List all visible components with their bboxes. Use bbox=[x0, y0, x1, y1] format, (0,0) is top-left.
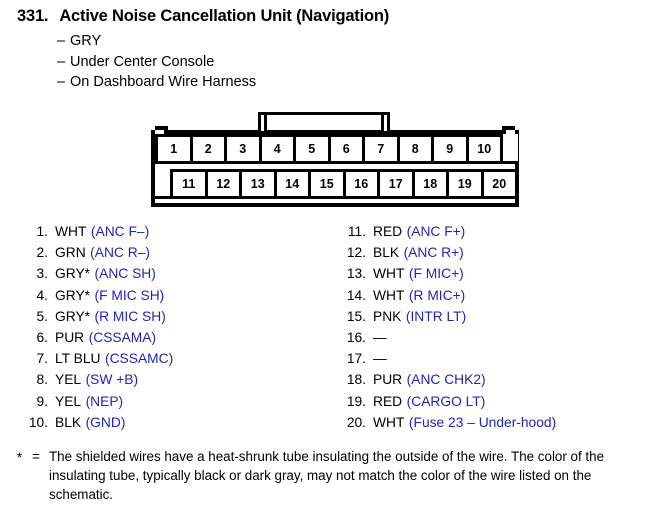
list-item: 1. WHT (ANC F–) bbox=[22, 224, 173, 245]
connector-pin-cell[interactable]: 20 bbox=[481, 169, 519, 199]
pin-circuit-name: (INTR LT) bbox=[406, 309, 466, 324]
asterisk-icon: * bbox=[17, 447, 32, 505]
list-item: 18. PUR (ANC CHK2) bbox=[340, 372, 556, 393]
pin-number: 5. bbox=[22, 309, 55, 324]
pin-circuit-name: (CSSAMC) bbox=[105, 351, 173, 366]
pin-number: 14. bbox=[340, 288, 373, 303]
connector-locking-bracket bbox=[258, 112, 390, 129]
list-item: 6. PUR (CSSAMA) bbox=[22, 330, 173, 351]
list-item: – GRY bbox=[57, 31, 256, 52]
connector-pin-cell[interactable]: 15 bbox=[308, 169, 346, 199]
list-item: 17. — bbox=[340, 351, 556, 372]
pin-number: 13. bbox=[340, 266, 373, 281]
section-title: Active Noise Cancellation Unit (Navigati… bbox=[59, 7, 389, 26]
connector-bracket-post-right bbox=[381, 112, 390, 134]
dash-icon: – bbox=[57, 52, 70, 73]
pin-circuit-name: (ANC CHK2) bbox=[407, 372, 486, 387]
pin-number: 9. bbox=[22, 394, 55, 409]
dash-icon: – bbox=[57, 31, 70, 52]
footnote: * = The shielded wires have a heat-shrun… bbox=[17, 447, 637, 505]
connector-pin-cell[interactable]: 13 bbox=[239, 169, 277, 199]
pin-wire-color: PNK bbox=[373, 309, 401, 324]
pin-wire-color: BLK bbox=[373, 245, 399, 260]
pin-wire-color: WHT bbox=[373, 415, 404, 430]
pin-circuit-name: (ANC R–) bbox=[90, 245, 150, 260]
pin-wire-color: WHT bbox=[55, 224, 86, 239]
pin-circuit-name: (ANC SH) bbox=[95, 266, 156, 281]
list-item: 16. — bbox=[340, 330, 556, 351]
list-item: 20. WHT (Fuse 23 – Under-hood) bbox=[340, 415, 556, 436]
pin-number: 15. bbox=[340, 309, 373, 324]
list-item: – Under Center Console bbox=[57, 52, 256, 73]
connector-pin-cell[interactable]: 18 bbox=[412, 169, 450, 199]
pin-list-left-column: 1. WHT (ANC F–) 2. GRN (ANC R–) 3. GRY* … bbox=[22, 224, 173, 436]
pin-circuit-name: (Fuse 23 – Under-hood) bbox=[409, 415, 556, 430]
pin-number: 2. bbox=[22, 245, 55, 260]
connector-pin-cell[interactable]: 3 bbox=[224, 134, 262, 164]
connector-bracket-post-left bbox=[258, 112, 267, 134]
connector-pin-cell[interactable]: 7 bbox=[362, 134, 400, 164]
connector-pin-cell[interactable]: 9 bbox=[431, 134, 469, 164]
pin-number: 11. bbox=[340, 224, 373, 239]
pin-number: 7. bbox=[22, 351, 55, 366]
pin-number: 8. bbox=[22, 372, 55, 387]
connector-pin-cell[interactable]: 8 bbox=[397, 134, 435, 164]
pin-circuit-name: (R MIC+) bbox=[409, 288, 465, 303]
pin-number: 16. bbox=[340, 330, 373, 345]
pin-number: 3. bbox=[22, 266, 55, 281]
connector-pin-cell[interactable]: 11 bbox=[170, 169, 208, 199]
bullet-label: Under Center Console bbox=[70, 52, 214, 73]
pin-circuit-name: (F MIC SH) bbox=[95, 288, 165, 303]
list-item: – On Dashboard Wire Harness bbox=[57, 72, 256, 93]
connector-pin-cell[interactable]: 17 bbox=[377, 169, 415, 199]
connector-pin-cell[interactable]: 14 bbox=[274, 169, 312, 199]
connector-pin-cell[interactable]: 16 bbox=[343, 169, 381, 199]
pin-number: 1. bbox=[22, 224, 55, 239]
pin-number: 18. bbox=[340, 372, 373, 387]
list-item: 12. BLK (ANC R+) bbox=[340, 245, 556, 266]
list-item: 7. LT BLU (CSSAMC) bbox=[22, 351, 173, 372]
list-item: 9. YEL (NEP) bbox=[22, 394, 173, 415]
pin-wire-color: GRY* bbox=[55, 288, 90, 303]
pin-unused-marker: — bbox=[373, 330, 387, 345]
connector-blank-cell bbox=[500, 134, 518, 164]
pin-number: 17. bbox=[340, 351, 373, 366]
pin-circuit-name: (SW +B) bbox=[86, 372, 139, 387]
section-number: 331. bbox=[17, 7, 48, 26]
pin-wire-color: WHT bbox=[373, 288, 404, 303]
connector-pin-cell[interactable]: 10 bbox=[466, 134, 504, 164]
page-title: 331. Active Noise Cancellation Unit (Nav… bbox=[17, 7, 389, 26]
pin-circuit-name: (ANC R+) bbox=[404, 245, 464, 260]
pin-wire-color: BLK bbox=[55, 415, 81, 430]
pin-unused-marker: — bbox=[373, 351, 387, 366]
pin-wire-color: PUR bbox=[373, 372, 402, 387]
pin-list-right-column: 11. RED (ANC F+) 12. BLK (ANC R+) 13. WH… bbox=[340, 224, 556, 436]
pin-wire-color: YEL bbox=[55, 372, 81, 387]
connector-pin-cell[interactable]: 5 bbox=[293, 134, 331, 164]
pin-circuit-name: (ANC F+) bbox=[407, 224, 466, 239]
pin-circuit-name: (F MIC+) bbox=[409, 266, 464, 281]
list-item: 10. BLK (GND) bbox=[22, 415, 173, 436]
connector-pin-row-bottom: 11 12 13 14 15 16 17 18 19 20 bbox=[155, 169, 515, 199]
dash-icon: – bbox=[57, 72, 70, 93]
pin-wire-color: YEL bbox=[55, 394, 81, 409]
list-item: 3. GRY* (ANC SH) bbox=[22, 266, 173, 287]
pin-number: 4. bbox=[22, 288, 55, 303]
pin-number: 12. bbox=[340, 245, 373, 260]
pin-circuit-name: (GND) bbox=[86, 415, 126, 430]
connector-pin-cell[interactable]: 4 bbox=[259, 134, 297, 164]
header-bullet-list: – GRY – Under Center Console – On Dashbo… bbox=[57, 31, 256, 93]
connector-pin-cell[interactable]: 19 bbox=[446, 169, 484, 199]
pin-number: 19. bbox=[340, 394, 373, 409]
pin-wire-color: GRN bbox=[55, 245, 86, 260]
pin-wire-color: WHT bbox=[373, 266, 404, 281]
connector-pin-cell[interactable]: 6 bbox=[328, 134, 366, 164]
list-item: 13. WHT (F MIC+) bbox=[340, 266, 556, 287]
bullet-label: On Dashboard Wire Harness bbox=[70, 72, 256, 93]
list-item: 4. GRY* (F MIC SH) bbox=[22, 288, 173, 309]
connector-pin-cell[interactable]: 1 bbox=[155, 134, 193, 164]
pin-wire-color: RED bbox=[373, 224, 402, 239]
pin-wire-color: GRY* bbox=[55, 309, 90, 324]
pin-wire-color: GRY* bbox=[55, 266, 90, 281]
connector-pin-row-top: 1 2 3 4 5 6 7 8 9 10 bbox=[155, 134, 515, 164]
connector-diagram: 1 2 3 4 5 6 7 8 9 10 11 12 13 14 15 16 1… bbox=[151, 112, 519, 207]
pin-circuit-name: (R MIC SH) bbox=[95, 309, 166, 324]
pin-number: 20. bbox=[340, 415, 373, 430]
list-item: 19. RED (CARGO LT) bbox=[340, 394, 556, 415]
list-item: 15. PNK (INTR LT) bbox=[340, 309, 556, 330]
list-item: 2. GRN (ANC R–) bbox=[22, 245, 173, 266]
connector-pin-cell[interactable]: 2 bbox=[190, 134, 228, 164]
pin-circuit-name: (NEP) bbox=[86, 394, 124, 409]
pin-wire-color: LT BLU bbox=[55, 351, 101, 366]
connector-pin-cell[interactable]: 12 bbox=[205, 169, 243, 199]
list-item: 14. WHT (R MIC+) bbox=[340, 288, 556, 309]
pin-wire-color: PUR bbox=[55, 330, 84, 345]
equals-sign: = bbox=[32, 447, 49, 505]
list-item: 5. GRY* (R MIC SH) bbox=[22, 309, 173, 330]
pin-number: 6. bbox=[22, 330, 55, 345]
pin-number: 10. bbox=[22, 415, 55, 430]
bullet-label: GRY bbox=[70, 31, 101, 52]
list-item: 11. RED (ANC F+) bbox=[340, 224, 556, 245]
pin-circuit-name: (ANC F–) bbox=[91, 224, 149, 239]
footnote-text: The shielded wires have a heat-shrunk tu… bbox=[49, 447, 637, 505]
list-item: 8. YEL (SW +B) bbox=[22, 372, 173, 393]
pin-circuit-name: (CARGO LT) bbox=[407, 394, 486, 409]
pin-wire-color: RED bbox=[373, 394, 402, 409]
pin-circuit-name: (CSSAMA) bbox=[89, 330, 156, 345]
